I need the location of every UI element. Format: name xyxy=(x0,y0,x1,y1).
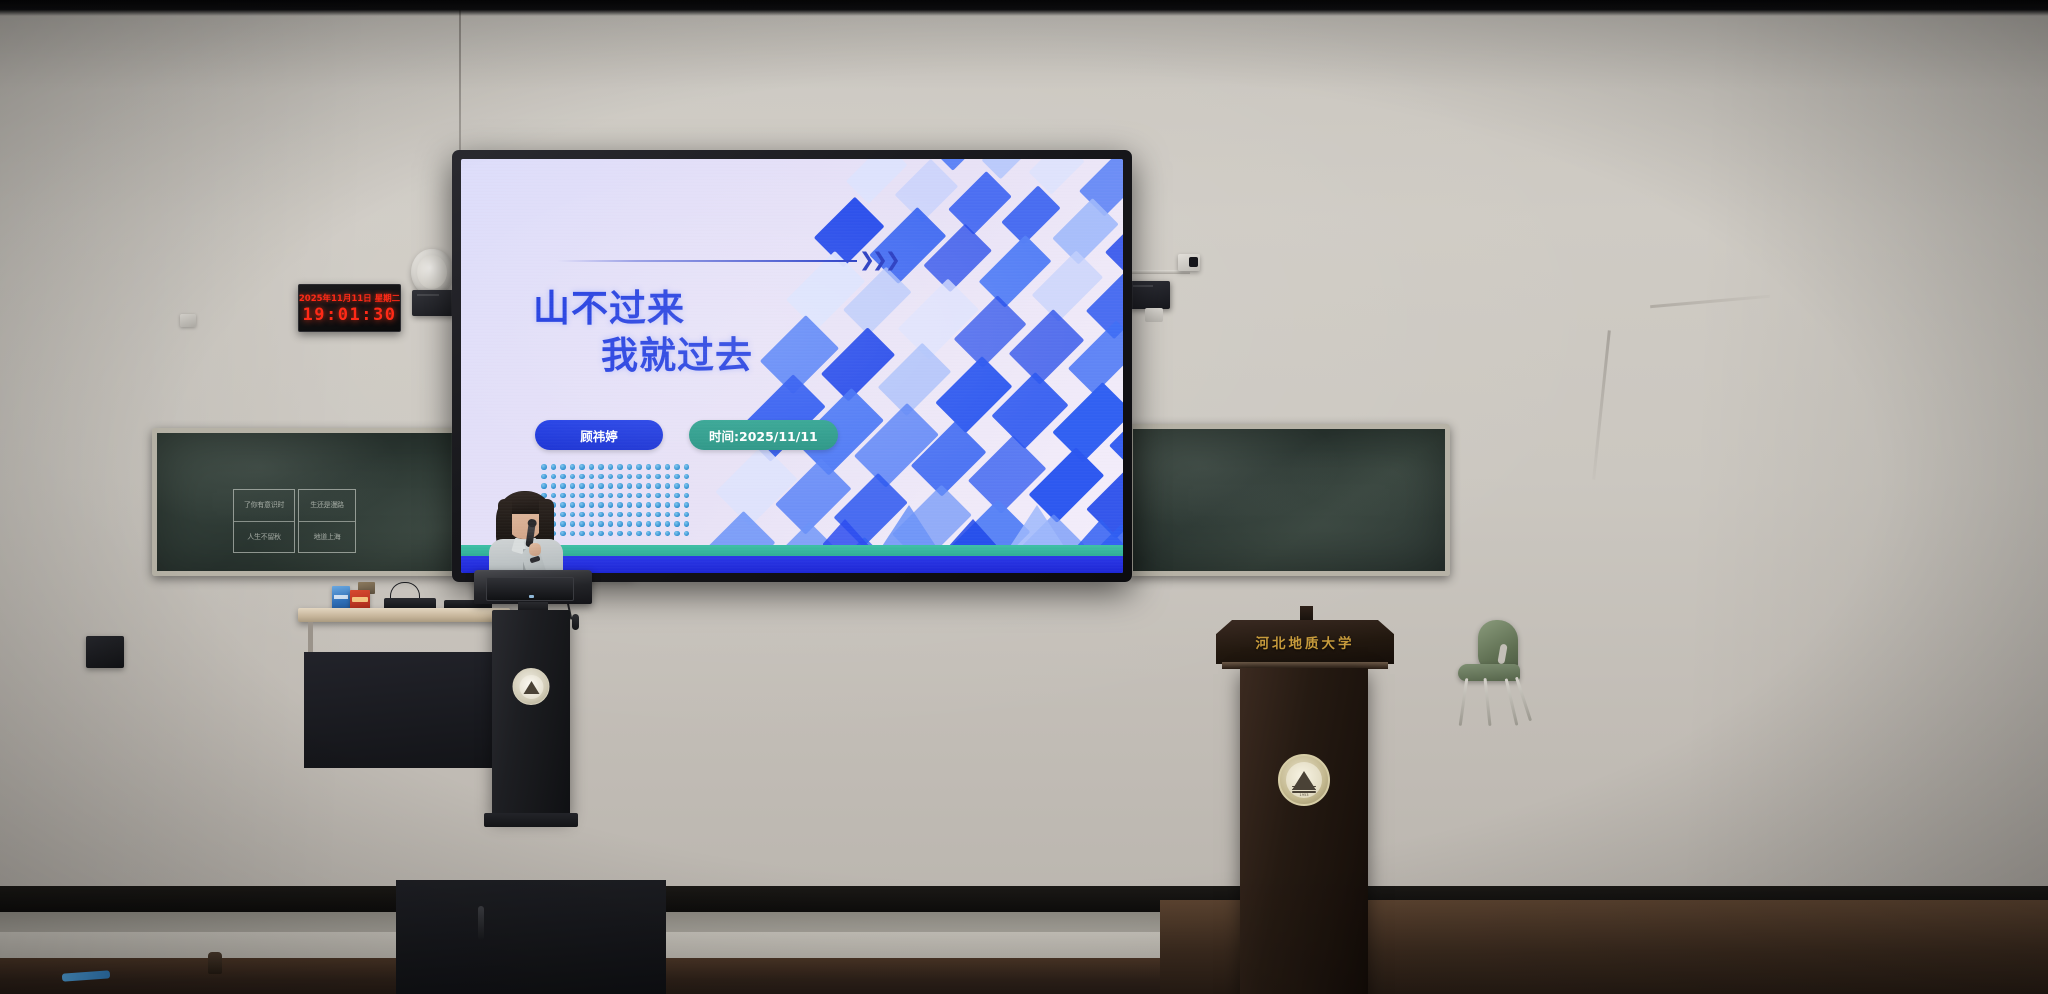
desk-red-box xyxy=(350,590,370,610)
slide-title-line-1: 山不过来 xyxy=(533,285,753,332)
presenter-hand xyxy=(529,543,541,556)
slide-dot xyxy=(598,493,604,499)
slide-dot xyxy=(598,483,604,489)
slide-pill-group: 顾祎婷 时间:2025/11/11 xyxy=(535,420,838,450)
slide-dot xyxy=(570,474,576,480)
slide-dot xyxy=(627,502,633,508)
university-emblem-large-icon: 1953 xyxy=(1278,754,1330,806)
slide-dot xyxy=(684,502,690,508)
slide-dot xyxy=(674,512,680,518)
slide-dot xyxy=(570,521,576,527)
slide-dot xyxy=(617,464,623,470)
slide-dot xyxy=(646,502,652,508)
chalk-cell: 生还是漫路 xyxy=(299,490,355,521)
slide-title: 山不过来 我就过去 xyxy=(533,285,753,380)
slide-dot xyxy=(636,493,642,499)
slide-dot xyxy=(608,493,614,499)
slide-dot xyxy=(608,502,614,508)
slide-dot xyxy=(636,521,642,527)
lectern-body xyxy=(492,610,570,816)
slide-dot xyxy=(598,521,604,527)
chalk-column-1: 了你有意识时 人生不留秋 xyxy=(233,489,295,553)
slide-dot xyxy=(579,531,585,537)
blackboard-right xyxy=(1128,424,1450,576)
chalk-cell: 了你有意识时 xyxy=(234,490,294,521)
slide-dot xyxy=(665,521,671,527)
slide-dot xyxy=(541,464,547,470)
chalk-column-2: 生还是漫路 地道上海 xyxy=(298,489,356,553)
slide-dot xyxy=(684,512,690,518)
slide-dot xyxy=(636,483,642,489)
slide-title-line-2: 我就过去 xyxy=(601,332,753,379)
slide-dot xyxy=(551,474,557,480)
slide-dot xyxy=(570,493,576,499)
slide-dot xyxy=(598,464,604,470)
slide-dot xyxy=(655,502,661,508)
slide-dot xyxy=(655,464,661,470)
floor-object xyxy=(208,952,222,974)
slide-dot xyxy=(579,464,585,470)
slide-dot xyxy=(684,483,690,489)
slide-dot xyxy=(684,493,690,499)
slide-dot xyxy=(646,521,652,527)
slide-dot xyxy=(589,474,595,480)
chair-leg xyxy=(1459,678,1469,726)
university-podium: 河北地质大学 1953 xyxy=(1216,606,1394,994)
slide-dot xyxy=(560,474,566,480)
slide-dot xyxy=(617,502,623,508)
slide-artwork-block xyxy=(948,171,1011,234)
podium-body: 1953 xyxy=(1240,668,1368,994)
wall-mount-bracket xyxy=(1145,308,1163,322)
slide-dot xyxy=(684,531,690,537)
desk-blue-box xyxy=(332,586,350,610)
slide-dot xyxy=(665,464,671,470)
slide-dot xyxy=(655,483,661,489)
university-emblem-icon xyxy=(513,668,550,705)
slide-author-pill: 顾祎婷 xyxy=(535,420,663,450)
slide-dot xyxy=(617,531,623,537)
slide-dot xyxy=(627,512,633,518)
classroom-chair xyxy=(1452,620,1532,730)
slide-dot xyxy=(665,483,671,489)
slide-date-pill: 时间:2025/11/11 xyxy=(689,420,838,450)
slide-dot xyxy=(570,483,576,489)
chevron-right-icon: ❯❯❯ xyxy=(859,251,898,270)
slide-dot xyxy=(655,512,661,518)
slide-dot xyxy=(646,512,652,518)
slide-decorative-line xyxy=(557,260,857,262)
slide-artwork-block xyxy=(1001,185,1061,245)
lectern-mic-icon xyxy=(572,614,579,630)
slide-dot xyxy=(665,512,671,518)
slide-dot xyxy=(598,502,604,508)
slide-dot xyxy=(655,531,661,537)
top-edge-shadow xyxy=(0,0,2048,16)
slide-dot xyxy=(636,502,642,508)
podium-emblem-waves xyxy=(1292,786,1316,793)
slide-dot xyxy=(655,521,661,527)
slide-dot xyxy=(674,521,680,527)
slide-dot xyxy=(608,531,614,537)
podium-emblem-inner: 1953 xyxy=(1286,762,1322,798)
chair-leg xyxy=(1483,678,1491,726)
slide-dot xyxy=(674,493,680,499)
slide-dot xyxy=(684,464,690,470)
slide-dot xyxy=(589,502,595,508)
slide-dot xyxy=(589,464,595,470)
slide-dot xyxy=(646,474,652,480)
camera-icon xyxy=(1178,254,1200,271)
slide-artwork-block xyxy=(895,159,959,223)
slide-dot xyxy=(589,512,595,518)
podium-stub xyxy=(1300,606,1313,622)
slide-dot xyxy=(579,493,585,499)
wall-control-box xyxy=(412,290,455,316)
slide-dot xyxy=(598,531,604,537)
slide-dot xyxy=(627,521,633,527)
wall-black-panel xyxy=(86,636,124,668)
slide-dot xyxy=(674,502,680,508)
slide-dot xyxy=(665,502,671,508)
slide-dot xyxy=(655,474,661,480)
slide-dot xyxy=(570,531,576,537)
slide-dot xyxy=(617,521,623,527)
led-clock-time: 19:01:30 xyxy=(303,305,397,325)
slide-dot xyxy=(636,512,642,518)
slide-dot xyxy=(636,474,642,480)
chair-leg xyxy=(1515,677,1532,722)
lecture-hall-scene: 了你有意识时 人生不留秋 生还是漫路 地道上海 2025年11月11日 星期二 … xyxy=(0,0,2048,994)
slide-dot xyxy=(608,512,614,518)
slide-dot xyxy=(665,474,671,480)
slide-dot xyxy=(674,531,680,537)
slide-dot xyxy=(646,483,652,489)
slide-dot xyxy=(579,502,585,508)
wall-speaker-icon xyxy=(411,249,453,295)
podium-university-name: 河北地质大学 xyxy=(1216,632,1394,652)
desk-leg-left xyxy=(308,622,313,656)
slide-dot xyxy=(674,483,680,489)
slide-dot xyxy=(627,483,633,489)
slide-dot xyxy=(608,474,614,480)
slide-dot xyxy=(608,521,614,527)
slide-dot xyxy=(579,521,585,527)
lectern-top xyxy=(474,570,592,604)
slide-dot xyxy=(617,512,623,518)
led-clock-display: 2025年11月11日 星期二 19:01:30 xyxy=(298,284,401,332)
lectern xyxy=(470,570,595,994)
slide-dot xyxy=(684,474,690,480)
slide-dot xyxy=(674,464,680,470)
slide-dot xyxy=(589,521,595,527)
slide-dot xyxy=(684,521,690,527)
chalk-diagram: 了你有意识时 人生不留秋 生还是漫路 地道上海 xyxy=(233,489,363,553)
slide-dot xyxy=(541,474,547,480)
slide-dot xyxy=(646,493,652,499)
slide-dot xyxy=(608,464,614,470)
slide-artwork-block xyxy=(1052,382,1123,462)
led-clock-date: 2025年11月11日 星期二 xyxy=(299,292,400,304)
slide-dot xyxy=(627,464,633,470)
slide-dot xyxy=(665,493,671,499)
slide-dot xyxy=(646,531,652,537)
slide-dot xyxy=(589,531,595,537)
slide-dot xyxy=(598,474,604,480)
slide-dot xyxy=(674,474,680,480)
chalk-cell: 人生不留秋 xyxy=(234,521,294,553)
slide-dot xyxy=(608,483,614,489)
slide-dot xyxy=(551,464,557,470)
slide-dot xyxy=(570,464,576,470)
slide-dot xyxy=(598,512,604,518)
slide-dot xyxy=(646,464,652,470)
lectern-monitor xyxy=(486,577,574,601)
slide-dot xyxy=(627,531,633,537)
slide-dot xyxy=(627,493,633,499)
slide-dot xyxy=(589,483,595,489)
slide-dot xyxy=(617,474,623,480)
slide-dot xyxy=(665,531,671,537)
slide-dot xyxy=(627,474,633,480)
slide-dot xyxy=(570,502,576,508)
chalk-cell: 地道上海 xyxy=(299,521,355,553)
emblem-inner xyxy=(519,675,543,699)
slide-dot xyxy=(579,483,585,489)
slide-dot xyxy=(579,512,585,518)
emblem-mountain-shape xyxy=(523,681,539,694)
slide-dot xyxy=(636,531,642,537)
podium-emblem-year: 1953 xyxy=(1286,793,1322,797)
wall-speaker-right-icon xyxy=(1128,281,1170,309)
slide-dot xyxy=(617,493,623,499)
slide-dot xyxy=(589,493,595,499)
lectern-base xyxy=(484,813,578,827)
slide-dot xyxy=(617,483,623,489)
slide-dot xyxy=(655,493,661,499)
slide-dot xyxy=(579,474,585,480)
wall-small-box xyxy=(180,314,196,327)
slide-dot xyxy=(560,464,566,470)
slide-dot xyxy=(636,464,642,470)
slide-dot xyxy=(570,512,576,518)
chair-leg xyxy=(1505,678,1519,725)
